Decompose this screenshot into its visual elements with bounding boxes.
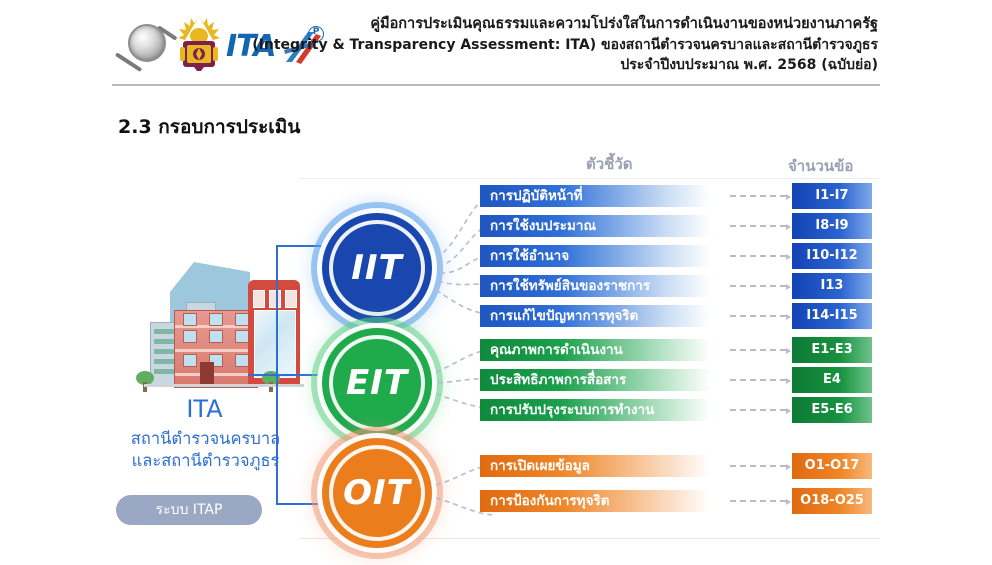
indicator-label: การปฏิบัติหน้าที่ (490, 185, 583, 207)
group-circle-eit[interactable]: EIT (322, 328, 432, 438)
group-circle-iit-label: IIT (351, 248, 403, 288)
indicator-badge: I13 (792, 273, 872, 299)
row-connector-icon (730, 225, 786, 229)
row-connector-icon (730, 500, 786, 504)
indicator-badge: O1-O17 (792, 453, 872, 479)
entity-subtitle-line-2: และสถานีตำรวจภูธร (108, 450, 303, 472)
indicator-label: การปรับปรุงระบบการทำงาน (490, 399, 654, 421)
indicator-label: การแก้ไขปัญหาการทุจริต (490, 305, 638, 327)
row-connector-icon (730, 349, 786, 353)
group-circle-eit-label: EIT (346, 363, 408, 403)
header-title-line-1: คู่มือการประเมินคุณธรรมและความโปร่งใสในก… (252, 14, 878, 35)
header-divider (112, 84, 880, 86)
indicator-badge: E4 (792, 367, 872, 393)
police-station-building-illustration (122, 262, 287, 392)
indicator-label: การเปิดเผยข้อมูล (490, 455, 590, 477)
garuda-emblem-icon (174, 14, 224, 72)
entity-name: ITA (122, 395, 287, 423)
group-circle-iit[interactable]: IIT (322, 213, 432, 323)
assessment-framework-diagram: ตัวชี้วัด จำนวนข้อ (0, 140, 992, 550)
row-connector-icon (730, 285, 786, 289)
magnifier-seal-icon (118, 22, 178, 66)
header-title-block: คู่มือการประเมินคุณธรรมและความโปร่งใสในก… (252, 14, 878, 76)
row-connector-icon (730, 315, 786, 319)
row-connector-icon (730, 379, 786, 383)
indicator-label: การใช้งบประมาณ (490, 215, 596, 237)
indicator-label: การใช้อำนาจ (490, 245, 569, 267)
indicator-badge: I8-I9 (792, 213, 872, 239)
indicator-label: คุณภาพการดำเนินงาน (490, 339, 623, 361)
header-title-line-3: ประจำปีงบประมาณ พ.ศ. 2568 (ฉบับย่อ) (252, 55, 878, 75)
row-connector-icon (730, 465, 786, 469)
page-root: ITA P คู่มือการประเมินคุณธรรมและความโปร่… (0, 0, 992, 565)
column-header-indicator: ตัวชี้วัด (586, 152, 633, 176)
header-title-line-2: (Integrity & Transparency Assessment: IT… (252, 35, 878, 55)
indicator-label: การใช้ทรัพย์สินของราชการ (490, 275, 650, 297)
group-circle-oit-label: OIT (343, 473, 411, 513)
column-header-count: จำนวนข้อ (788, 154, 853, 178)
entity-subtitle: สถานีตำรวจนครบาล และสถานีตำรวจภูธร (108, 428, 303, 473)
indicator-badge: I14-I15 (792, 303, 872, 329)
document-header: ITA P คู่มือการประเมินคุณธรรมและความโปร่… (0, 0, 992, 92)
row-connector-icon (730, 255, 786, 259)
indicator-badge: I1-I7 (792, 183, 872, 209)
row-connector-icon (730, 409, 786, 413)
entity-subtitle-line-1: สถานีตำรวจนครบาล (108, 428, 303, 450)
diagram-top-rule (300, 178, 880, 179)
indicator-badge: O18-O25 (792, 488, 872, 514)
section-title: 2.3 กรอบการประเมิน (118, 112, 300, 142)
itap-system-button[interactable]: ระบบ ITAP (116, 495, 262, 525)
indicator-badge: I10-I12 (792, 243, 872, 269)
indicator-label: การป้องกันการทุจริต (490, 490, 610, 512)
indicator-badge: E1-E3 (792, 337, 872, 363)
group-circle-oit[interactable]: OIT (322, 438, 432, 548)
indicator-label: ประสิทธิภาพการสื่อสาร (490, 369, 626, 391)
row-connector-icon (730, 195, 786, 199)
indicator-badge: E5-E6 (792, 397, 872, 423)
